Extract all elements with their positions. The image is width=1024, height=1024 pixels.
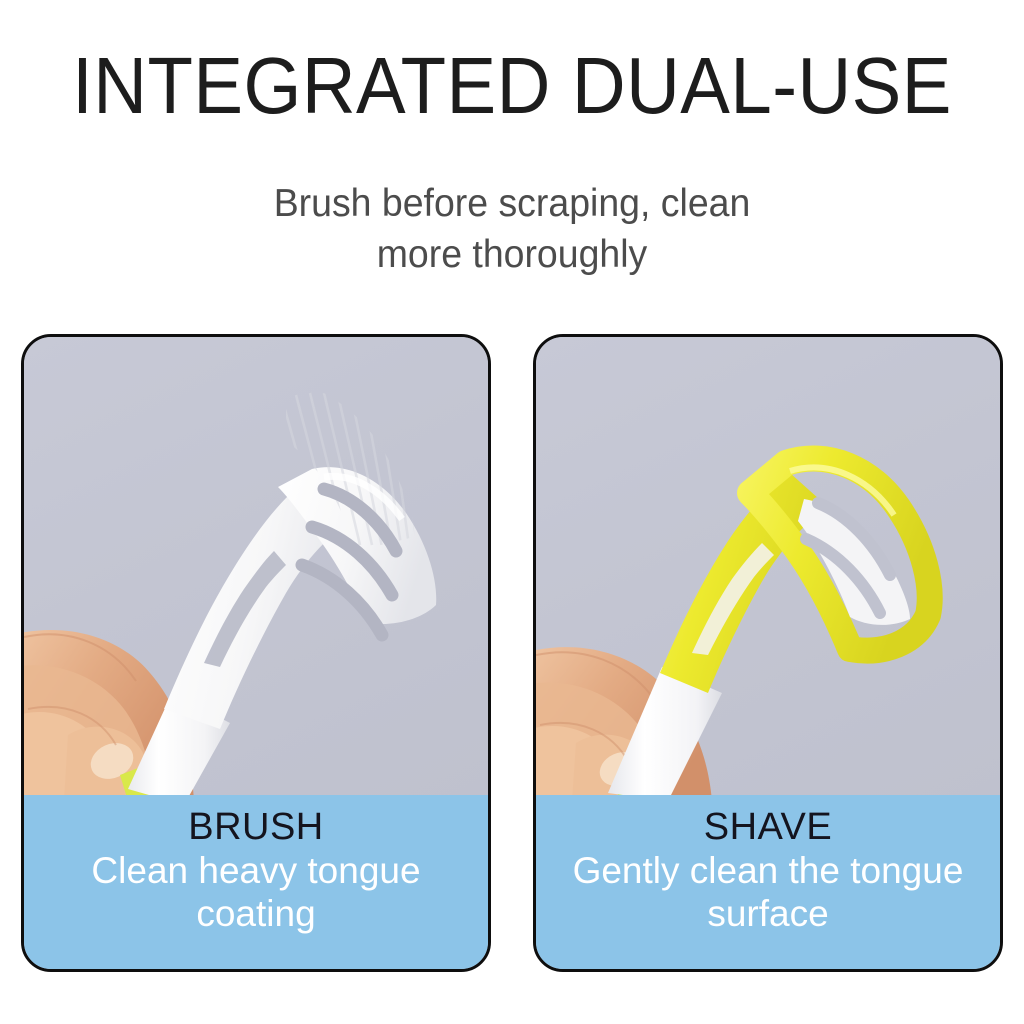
shave-product-photo (536, 337, 1000, 801)
brush-product-illustration (24, 337, 488, 801)
panel-brush: BRUSH Clean heavy tongue coating (21, 334, 491, 972)
shave-caption-desc-line-2: surface (540, 893, 996, 936)
tongue-brush (128, 393, 436, 801)
infographic-page: INTEGRATED DUAL-USE Brush before scrapin… (0, 0, 1024, 1024)
brush-product-photo (24, 337, 488, 801)
shave-caption-desc-line-1: Gently clean the tongue (540, 850, 996, 893)
page-subtitle-line-2: more thoroughly (20, 229, 1003, 280)
tongue-scraper (608, 459, 930, 801)
panel-row: BRUSH Clean heavy tongue coating (0, 334, 1024, 976)
brush-caption-desc: Clean heavy tongue coating (24, 850, 488, 936)
page-title: INTEGRATED DUAL-USE (36, 46, 988, 126)
shave-caption-title: SHAVE (536, 807, 1000, 849)
brush-caption-desc-line-1: Clean heavy tongue (28, 850, 484, 893)
page-subtitle: Brush before scraping, clean more thorou… (20, 178, 1003, 281)
shave-caption: SHAVE Gently clean the tongue surface (536, 795, 1000, 969)
shave-caption-desc: Gently clean the tongue surface (536, 850, 1000, 936)
brush-caption-desc-line-2: coating (28, 893, 484, 936)
shave-product-illustration (536, 337, 1000, 801)
brush-caption-title: BRUSH (24, 807, 488, 849)
panel-shave: SHAVE Gently clean the tongue surface (533, 334, 1003, 972)
brush-caption: BRUSH Clean heavy tongue coating (24, 795, 488, 969)
page-subtitle-line-1: Brush before scraping, clean (20, 178, 1003, 229)
